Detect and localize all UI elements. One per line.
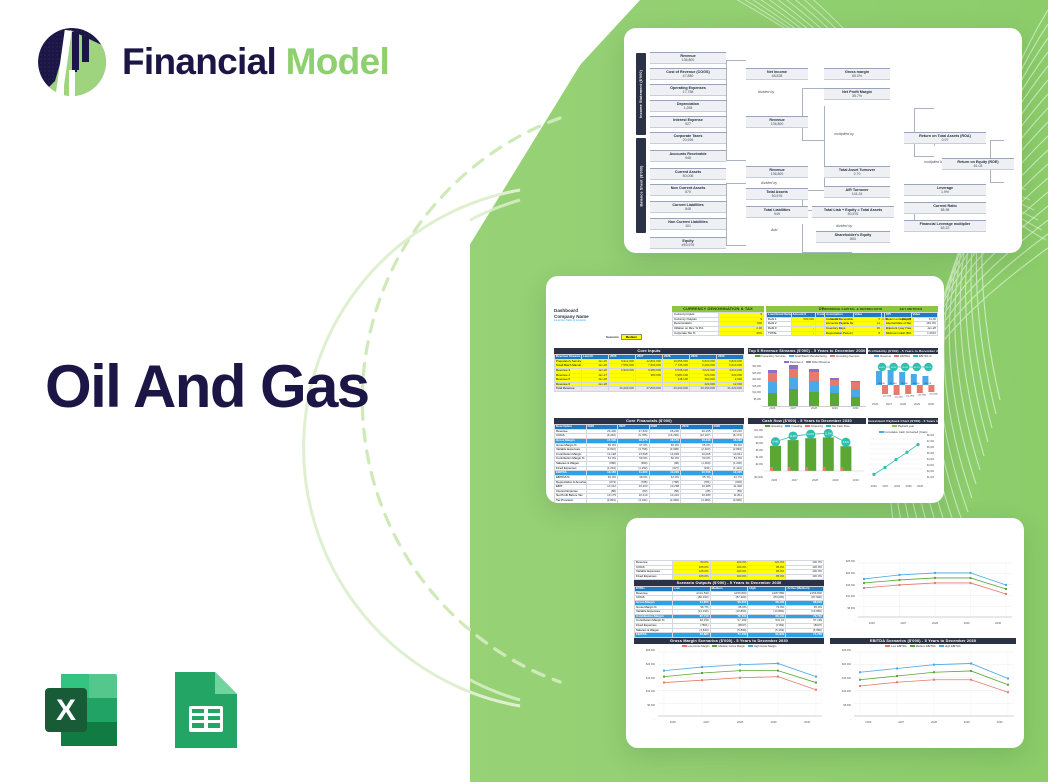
node-revenue-3: Revenue136,800 <box>746 166 808 178</box>
table-cell <box>582 387 609 392</box>
y-tick: - <box>748 404 761 407</box>
table-cell: 21,220,000 <box>717 387 744 392</box>
node-net-profit-margin: Net Profit Margin35.7% <box>824 88 890 100</box>
y-tick: $15,000 <box>748 385 761 388</box>
connector <box>726 60 727 160</box>
connector <box>726 60 746 61</box>
bar-segment <box>809 381 818 391</box>
y-tick: $1,000 <box>927 477 938 479</box>
table-cell: Discount / pay (Years) <box>885 326 912 331</box>
table-cell: 30% <box>718 331 764 336</box>
y-axis-labels: $12,000$10,000$8,000$6,000$4,000$2,000-(… <box>748 429 764 479</box>
logo-wordmark: Financial Model <box>122 41 389 83</box>
x-axis-labels: 20262027202820292030 <box>634 721 824 724</box>
svg-text:26,400: 26,400 <box>878 383 885 385</box>
x-tick: 2026 <box>869 622 875 625</box>
table-cell: TOTAL <box>767 331 792 336</box>
node-roa: Return on Total Assets (ROA)0.97 <box>904 132 986 144</box>
table-cell: Contribution Margin % <box>555 457 587 462</box>
table-cell: 26,200,000 <box>609 387 636 392</box>
x-axis-labels: 20262027202820292030 <box>748 407 866 410</box>
legend-swatch <box>784 361 789 363</box>
node-non-current-liabilities: Non Current Liabilities101 <box>650 218 726 230</box>
node-net-income: Net Income48,828 <box>746 68 808 80</box>
node-interest-expense: Interest Expense527 <box>650 116 726 128</box>
connector <box>802 88 824 89</box>
svg-text:(11,290): (11,290) <box>906 395 914 397</box>
x-tick: 2026 <box>670 721 676 724</box>
ebitda-plot <box>852 649 1016 721</box>
legend-swatch <box>874 355 879 357</box>
connector <box>990 182 1004 183</box>
x-tick: 2026 <box>769 407 775 410</box>
node-accounts-receivable: Accounts Receivable948 <box>650 150 726 162</box>
x-tick: 2029 <box>964 721 970 724</box>
bar-segment <box>851 397 860 406</box>
legend-swatch <box>712 645 717 647</box>
node-total-asset-turnover: Total Asset Turnover2.70 <box>824 166 890 178</box>
svg-text:X: X <box>56 694 76 727</box>
stacked-bars <box>762 365 866 406</box>
y-axis-labels: $25,000$20,000$15,000$10,000$5,000- <box>830 649 852 721</box>
chart-legend: Low EBITDAMedium EBITDAHigh EBITDA <box>830 644 1016 648</box>
x-axis-labels: 20262027202820292030 <box>868 403 938 406</box>
svg-text:20,210: 20,210 <box>924 383 931 385</box>
bar-segment <box>830 386 839 393</box>
table-cell: Small Batch Manufacturing <box>555 364 582 369</box>
y-tick: $10,000 <box>830 690 851 693</box>
microsoft-excel-icon[interactable]: X <box>37 666 125 754</box>
chart-scenario-lines[interactable]: $25,000$20,000$15,000$10,000$5,000- 2026… <box>834 560 1014 632</box>
connector <box>802 252 852 253</box>
x-tick: 2026 <box>871 485 877 488</box>
legend-swatch <box>785 425 790 427</box>
connector <box>914 156 934 157</box>
chart-legend: Payback yearCumulative Cash Converted (Y… <box>868 424 938 434</box>
table-cell: Net Profit Before Tax <box>555 494 587 499</box>
connector <box>802 224 803 252</box>
legend-item: Low Gross Margin <box>682 645 710 648</box>
table-cell: Depreciation Period (Years) <box>825 331 854 336</box>
legend-swatch <box>879 431 884 433</box>
page-title: Oil And Gas <box>45 352 369 421</box>
y-tick: $15,000 <box>634 677 655 680</box>
node-shareholders-equity: Shareholder's Equity800 <box>816 231 890 243</box>
connector <box>726 183 727 245</box>
table-cell: 8 <box>853 331 882 336</box>
table-cell: Depreciation & Amortisation <box>555 480 587 485</box>
bar-segment <box>789 369 798 378</box>
y-tick: $5,000 <box>834 607 855 610</box>
svg-text:42.0%: 42.0% <box>902 367 908 369</box>
table-cell: Corporate Tax % <box>673 331 719 336</box>
node-revenue: Revenue136,800 <box>650 52 726 64</box>
table-cell: - <box>791 331 816 336</box>
legend-swatch <box>748 645 753 647</box>
x-tick: 2029 <box>906 485 912 488</box>
legend-item: EBITDA <box>894 355 910 358</box>
y-tick: $15,000 <box>834 584 855 587</box>
x-axis-labels: 20262027202820292030 <box>748 479 866 482</box>
svg-text:8,408: 8,408 <box>773 442 779 444</box>
y-tick: $5,000 <box>830 704 851 707</box>
x-axis-labels: 20262027202820292030 <box>830 721 1016 724</box>
y-tick: $6,000 <box>927 447 938 449</box>
legend-item: Net Cash Flow <box>826 425 850 428</box>
legend-swatch <box>830 355 835 357</box>
y-tick: $2,000 <box>927 471 938 473</box>
operator-divided-by: divided by <box>758 90 774 94</box>
table-row: Minimum Cash ($'000)1,0910 <box>885 331 938 336</box>
node-current-assets: Current Assets50,006 <box>650 168 726 180</box>
chart-profitability[interactable]: Profitability ($'000) - 5 Years to Decem… <box>868 348 938 414</box>
table-row: Depreciation Period (Years)8 <box>825 331 882 336</box>
y-tick: $5,000 <box>927 453 938 455</box>
y-tick: - <box>927 483 938 485</box>
legend-item: Cumulative Cash Converted (Years) <box>879 431 928 434</box>
x-tick: 2028 <box>811 407 817 410</box>
legend-swatch <box>885 645 890 647</box>
chart-cash-flow[interactable]: Cash flow ($'000) - 5 Years to December … <box>748 418 866 490</box>
bar-column <box>809 365 818 406</box>
legend-swatch <box>789 355 794 357</box>
node-ar-turnover: A/R Turnover144.24 <box>824 186 890 198</box>
table-cell: Minimum Cash ($'000) <box>885 331 912 336</box>
svg-text:40.0%: 40.0% <box>879 367 885 369</box>
y-axis-labels: $25,000$20,000$15,000$10,000$5,000- <box>834 560 856 622</box>
y-tick: $25,000 <box>634 649 655 652</box>
x-tick: 2028 <box>900 403 906 406</box>
gross-margin-plot <box>656 649 824 721</box>
scenario-lines-plot <box>856 560 1014 622</box>
x-tick: 2029 <box>914 403 920 406</box>
payback-plot <box>868 435 924 485</box>
bar-column <box>830 365 839 406</box>
legend-swatch <box>806 361 811 363</box>
legend-item: High Gross Margin <box>748 645 776 648</box>
y-tick: $12,000 <box>748 429 763 432</box>
currency-table: Currency Inputs$Currency Outputs$Denomin… <box>672 312 764 336</box>
y-tick: $10,000 <box>634 690 655 693</box>
x-tick: 2029 <box>832 479 838 482</box>
legend-item: Financing <box>805 425 823 428</box>
x-tick: 2026 <box>865 721 871 724</box>
connector <box>990 140 1004 141</box>
legend-item: Revenue <box>874 355 891 358</box>
legend-item: Other Revenue <box>806 361 830 364</box>
legend-item: High EBITDA <box>939 645 961 648</box>
key-metrics-table: KPIValueReturn on Equity (ROE)61.00Inter… <box>884 312 938 336</box>
connector <box>726 245 746 246</box>
node-total-liabilities: Total Liabilities949 <box>746 206 808 218</box>
svg-text:(10,033): (10,033) <box>929 393 937 395</box>
node-depreciation: Depreciation1,265 <box>650 100 726 112</box>
slide-canvas: Financial Model Oil And Gas X <box>0 0 1048 782</box>
x-tick: 2027 <box>898 721 904 724</box>
y-tick: $20,000 <box>834 572 855 575</box>
y-tick: $3,000 <box>927 465 938 467</box>
x-tick: 2029 <box>832 407 838 410</box>
node-roe: Return on Equity (ROE)61.03 <box>942 158 1014 170</box>
panel-scenario-outputs: Scenario Outputs ($'000) - 5 Years to De… <box>634 580 824 643</box>
x-tick: 2030 <box>917 485 923 488</box>
operator-multiplied-by: multiplied by <box>834 132 854 136</box>
x-tick: 2030 <box>853 479 859 482</box>
logo-mark-icon <box>36 26 108 98</box>
table-cell: 26,200,000 <box>663 387 690 392</box>
svg-text:42.7%: 42.7% <box>925 367 931 369</box>
y-axis-labels: $6,000$7,000$6,000$5,000$4,000$3,000$2,0… <box>926 435 938 485</box>
chart-ebitda-scenarios[interactable]: EBITDA Scenarios ($'000) - 5 Years to De… <box>830 638 1016 738</box>
svg-text:(11,200): (11,200) <box>895 396 903 398</box>
y-tick: $10,000 <box>748 436 763 439</box>
legend-swatch <box>910 645 915 647</box>
legend-item: EBITDA % <box>913 355 932 358</box>
bar-column <box>851 365 860 406</box>
spine-income-statement: Income Statement ($'000) <box>636 53 646 135</box>
node-operating-expenses: Operating Expenses17,758 <box>650 84 726 96</box>
x-tick: 2027 <box>900 622 906 625</box>
legend-item: Operating <box>765 425 783 428</box>
x-tick: 2028 <box>812 479 818 482</box>
legend-swatch <box>805 425 810 427</box>
bar-segment <box>789 389 798 406</box>
connector <box>726 183 746 184</box>
x-axis-labels: 20262027202820292030 <box>834 622 1014 625</box>
brand-logo: Financial Model <box>36 26 389 98</box>
dupont-ratio-tree-card[interactable]: Income Statement ($'000) Balance Sheet (… <box>624 28 1022 253</box>
connector <box>914 108 934 109</box>
x-tick: 2027 <box>792 479 798 482</box>
bar-column <box>768 365 777 406</box>
y-axis-labels: $25,000$20,000$15,000$10,000$5,000- <box>634 649 656 721</box>
legend-item: Low EBITDA <box>885 645 906 648</box>
y-tick: $25,000 <box>830 649 851 652</box>
panel-core-inputs: Core Inputs Revenue StreamsLaunch2026202… <box>554 348 744 392</box>
bar-segment <box>768 393 777 406</box>
legend-item: Consulting Services <box>830 355 860 358</box>
y-tick: $8,000 <box>748 442 763 445</box>
x-tick: 2029 <box>964 622 970 625</box>
x-tick: 2030 <box>995 622 1001 625</box>
operator-divided-by-3: divided by <box>836 224 852 228</box>
node-revenue-2: Revenue136,800 <box>746 116 808 128</box>
scenario-value[interactable]: Medium <box>621 334 642 340</box>
column-header: Revenue Streams <box>555 355 582 360</box>
x-tick: 2027 <box>703 721 709 724</box>
node-gross-margin: Gross margin65.0% <box>824 68 890 80</box>
x-tick: 2030 <box>853 407 859 410</box>
table-cell: Internal Rate of Return (IRR), % <box>885 322 912 327</box>
operator-add: Add <box>771 228 777 232</box>
bar-segment <box>851 389 860 397</box>
logo-word-financial: Financial <box>122 41 286 82</box>
y-tick: $20,000 <box>748 378 761 381</box>
y-tick: $15,000 <box>830 677 851 680</box>
svg-text:20,155: 20,155 <box>913 383 920 385</box>
x-tick: 2029 <box>771 721 777 724</box>
node-cogs: Cost of Revenue (COGS)47,880 <box>650 68 726 80</box>
column-header: Loan/Grant Name <box>767 313 792 318</box>
svg-text:8,241: 8,241 <box>843 442 849 444</box>
table-cell: Accounts Payable Days <box>825 322 854 327</box>
y-tick: $10,000 <box>748 391 761 394</box>
table-cell: 1,0910 <box>911 331 938 336</box>
node-current-ratio: Current Ratio58.98 <box>904 202 986 214</box>
y-tick: - <box>634 718 655 721</box>
google-sheets-icon[interactable] <box>159 666 247 754</box>
y-tick: $4,000 <box>927 459 938 461</box>
x-tick: 2026 <box>872 403 878 406</box>
panel-core-financials: Core Financials ($'000) Description20262… <box>554 418 744 503</box>
chart-legend: OperatingInvestingFinancingNet Cash Flow <box>748 424 866 428</box>
table-cell: Total Revenue <box>555 387 582 392</box>
chart-gross-margin-scenarios[interactable]: Gross Margin Scenarios ($'000) - 5 Years… <box>634 638 824 738</box>
y-tick: $7,000 <box>927 441 938 443</box>
legend-item: Investing <box>785 425 802 428</box>
table-cell: 27,800,000 <box>636 387 663 392</box>
svg-text:10,917: 10,917 <box>807 434 815 436</box>
y-axis-labels: $30,000$25,000$20,000$15,000$10,000$5,00… <box>748 365 762 407</box>
chart-top5-revenue-streams[interactable]: Top 5 Revenue Streams ($'000) - 5 Years … <box>748 348 866 414</box>
node-corporate-taxes: Corporate Taxes20,926 <box>650 132 726 144</box>
legend-swatch <box>755 355 760 357</box>
panel-working-capital-depreciation: WORKING CAPITAL & DEPRECIATION Assumptio… <box>824 306 882 336</box>
file-format-icons: X <box>37 666 247 754</box>
dashboard-title-block: Dashboard Company Name As at Dec Table o… <box>554 308 666 322</box>
y-tick: $20,000 <box>830 663 851 666</box>
node-equity: Equity#53,576 <box>650 237 726 249</box>
y-tick: $10,000 <box>834 595 855 598</box>
connector <box>726 160 746 161</box>
core-financials-table: Description20262027202820292030Revenue26… <box>554 424 744 503</box>
y-tick: $20,000 <box>634 663 655 666</box>
node-total-assets: Total Assets50,576 <box>746 188 808 200</box>
node-financial-leverage-multiplier: Financial Leverage multiplier63.22 <box>904 220 986 232</box>
operator-multiplied-by-2: multiplied by <box>924 160 944 164</box>
node-total-liab-equity: Total Liab + Equity = Total Assets50,576 <box>812 206 894 218</box>
y-tick: - <box>834 619 855 622</box>
financial-dashboard-card[interactable]: Dashboard Company Name As at Dec Table o… <box>546 276 944 503</box>
scenario-selector[interactable]: Scenario Medium <box>606 334 668 340</box>
x-tick: 2030 <box>804 721 810 724</box>
svg-text:39.0%: 39.0% <box>891 367 897 369</box>
legend-item: Preparatory Services <box>755 355 786 358</box>
panel-key-metrics: KEY METRICS KPIValueReturn on Equity (RO… <box>884 306 938 336</box>
bar-segment <box>789 378 798 389</box>
y-tick: $25,000 <box>748 372 761 375</box>
connector <box>802 140 824 141</box>
x-axis-labels: 20262027202820292030 <box>868 485 938 488</box>
x-tick: 2028 <box>932 622 938 625</box>
x-tick: 2030 <box>928 403 934 406</box>
bar-segment <box>809 372 818 381</box>
legend-swatch <box>894 355 899 357</box>
svg-text:11,184: 11,184 <box>825 433 833 435</box>
scenario-analysis-card[interactable]: Revenue80.0%100.0%120.0%100.0%COGS105.0%… <box>626 518 1024 748</box>
x-tick: 2027 <box>886 403 892 406</box>
y-tick: $25,000 <box>834 560 855 563</box>
y-tick: - <box>748 469 763 472</box>
legend-item: Revenue 4 <box>784 361 803 364</box>
x-tick: 2028 <box>894 485 900 488</box>
svg-text:26,200: 26,200 <box>901 383 908 385</box>
legend-item: Medium Gross Margin <box>712 645 744 648</box>
logo-word-model: Model <box>286 41 389 82</box>
cash-flow-plot: 8,40810,30010,91711,1848,241 <box>764 429 864 479</box>
svg-text:(10,796): (10,796) <box>918 394 926 396</box>
svg-text:35.7%: 35.7% <box>914 367 920 369</box>
y-tick: $4,000 <box>748 456 763 459</box>
working-capital-table: AssumptionValueAccounts Receivable Days5… <box>824 312 882 336</box>
bar-segment <box>830 393 839 406</box>
operator-divided-by-2: divided by <box>761 181 777 185</box>
y-tick: ($2,000) <box>748 476 763 479</box>
chart-legend: Preparatory ServicesSmall Batch Manufact… <box>748 354 866 364</box>
legend-swatch <box>939 645 944 647</box>
y-tick: $6,000 <box>748 449 763 452</box>
node-current-liabilities: Current Liabilities848 <box>650 201 726 213</box>
chart-legend: RevenueEBITDAEBITDA % <box>868 354 938 358</box>
y-tick: - <box>830 718 851 721</box>
legend-item: Medium EBITDA <box>910 645 936 648</box>
y-tick: $6,000 <box>927 435 938 437</box>
svg-text:10,300: 10,300 <box>790 436 798 438</box>
table-cell: Preparatory Services <box>555 359 582 364</box>
x-tick: 2027 <box>882 485 888 488</box>
svg-text:27,600: 27,600 <box>890 383 897 385</box>
bar-segment <box>768 373 777 382</box>
legend-item: Payback year <box>892 425 914 428</box>
svg-text:(10,109): (10,109) <box>883 395 891 397</box>
table-cell: 20,150,000 <box>690 387 717 392</box>
node-leverage: Leverage1.9% <box>904 184 986 196</box>
y-tick: $5,000 <box>634 704 655 707</box>
panel-currency-denomination-tax: CURRENCY DENOMINATION & TAX Currency Inp… <box>672 306 764 336</box>
x-tick: 2030 <box>997 721 1003 724</box>
legend-swatch <box>765 425 770 427</box>
y-tick: $5,000 <box>748 398 761 401</box>
bar-segment <box>768 382 777 392</box>
chart-legend: Low Gross MarginMedium Gross MarginHigh … <box>634 644 824 648</box>
x-tick: 2027 <box>790 407 796 410</box>
x-tick: 2028 <box>931 721 937 724</box>
profitability-plot: 26,400(10,109)27,600(11,200)26,200(11,29… <box>868 359 938 403</box>
legend-item: Small Batch Manufacturing <box>789 355 827 358</box>
legend-swatch <box>892 425 897 427</box>
legend-swatch <box>913 355 918 357</box>
legend-swatch <box>682 645 687 647</box>
connector <box>802 88 803 140</box>
legend-swatch <box>826 425 831 427</box>
core-inputs-table: Revenue StreamsLaunch2026202720282029203… <box>554 354 744 392</box>
node-non-current-assets: Non Current Assets570 <box>650 184 726 196</box>
bar-column <box>789 365 798 406</box>
bar-segment <box>809 392 818 406</box>
y-tick: $2,000 <box>748 463 763 466</box>
table-cell: Return on Equity (ROE) <box>885 317 912 322</box>
table-row: Total Revenue26,200,00027,800,00026,200,… <box>555 387 744 392</box>
x-tick: 2026 <box>771 479 777 482</box>
table-cell: Accounts Receivable Days <box>825 317 854 322</box>
table-row: Corporate Tax %30% <box>673 331 764 336</box>
x-tick: 2028 <box>737 721 743 724</box>
chart-investment-payback[interactable]: Investment Payback Chart ($'000) - 5 Yea… <box>868 418 938 490</box>
spine-balance-sheet: Balance Sheet ($'000) <box>636 138 646 233</box>
scenario-outputs-table: $'000sLowMediumHighActive (Medium)Revenu… <box>634 586 824 643</box>
y-tick: $30,000 <box>748 365 761 368</box>
